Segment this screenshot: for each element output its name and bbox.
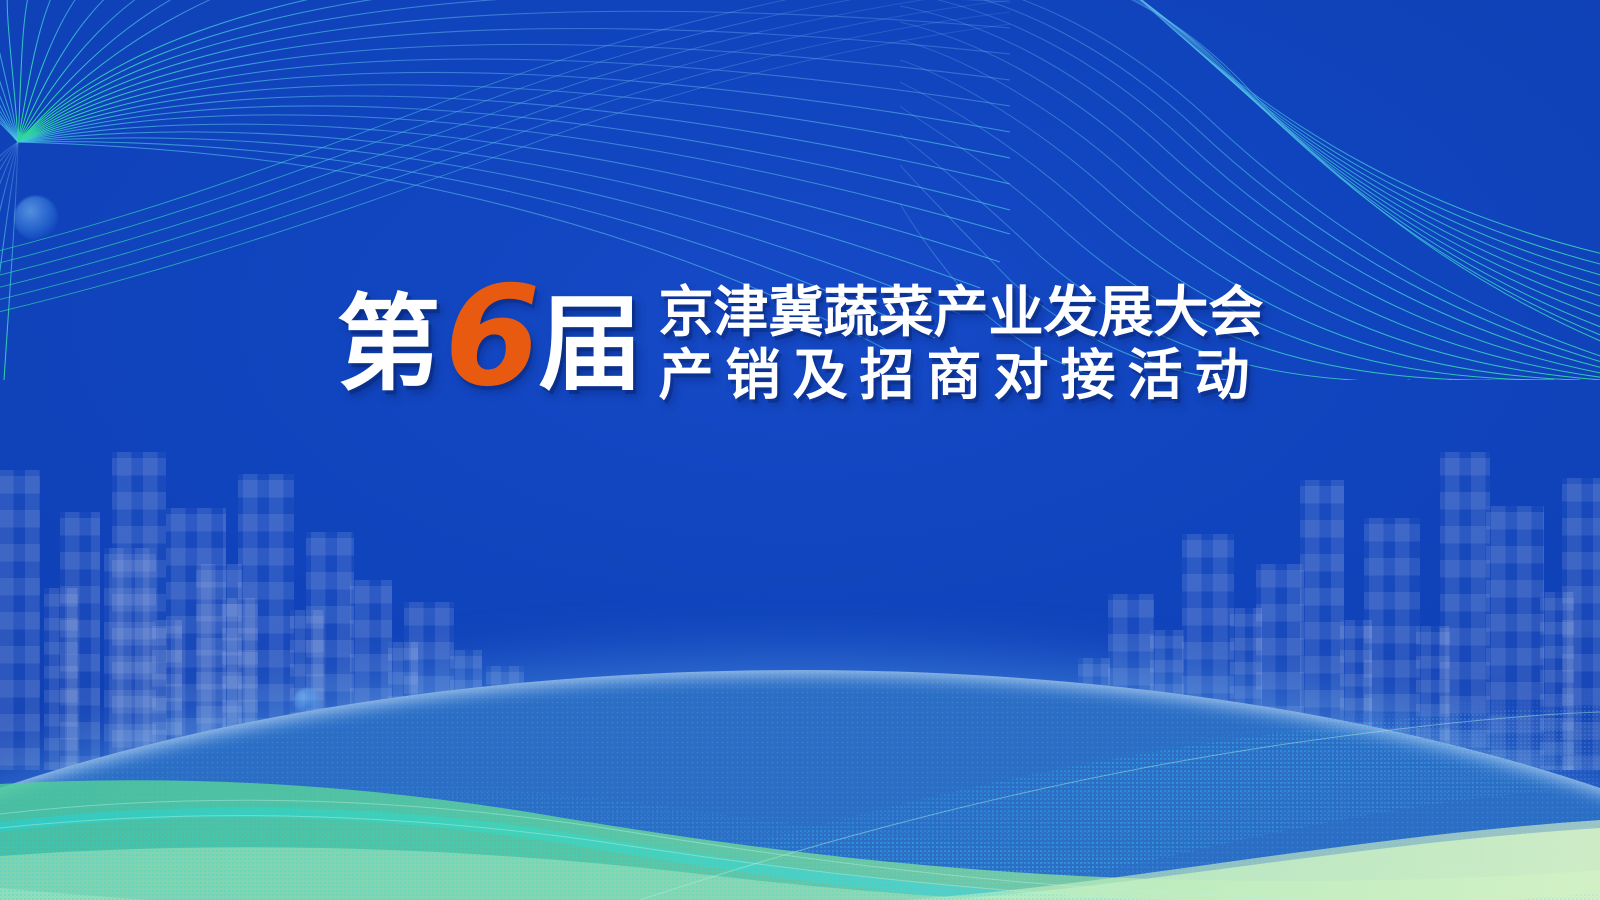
edition-ordinal: 第 6 届 bbox=[336, 282, 642, 406]
headline-line-2: 产销及招商对接活动 bbox=[659, 348, 1264, 403]
banner-canvas: 第 6 届 京津冀蔬菜产业发展大会 产销及招商对接活动 bbox=[0, 0, 1600, 900]
headline-line-1: 京津冀蔬菜产业发展大会 bbox=[659, 285, 1264, 340]
edition-number: 6 bbox=[444, 268, 534, 406]
headline-group: 京津冀蔬菜产业发展大会 产销及招商对接活动 bbox=[659, 285, 1264, 403]
ordinal-suffix: 届 bbox=[539, 292, 643, 396]
ordinal-prefix: 第 bbox=[336, 292, 440, 396]
globe-horizon-decor bbox=[0, 600, 1600, 900]
banner-title-block: 第 6 届 京津冀蔬菜产业发展大会 产销及招商对接活动 bbox=[0, 282, 1600, 406]
glow-dot-top-left bbox=[14, 196, 58, 240]
